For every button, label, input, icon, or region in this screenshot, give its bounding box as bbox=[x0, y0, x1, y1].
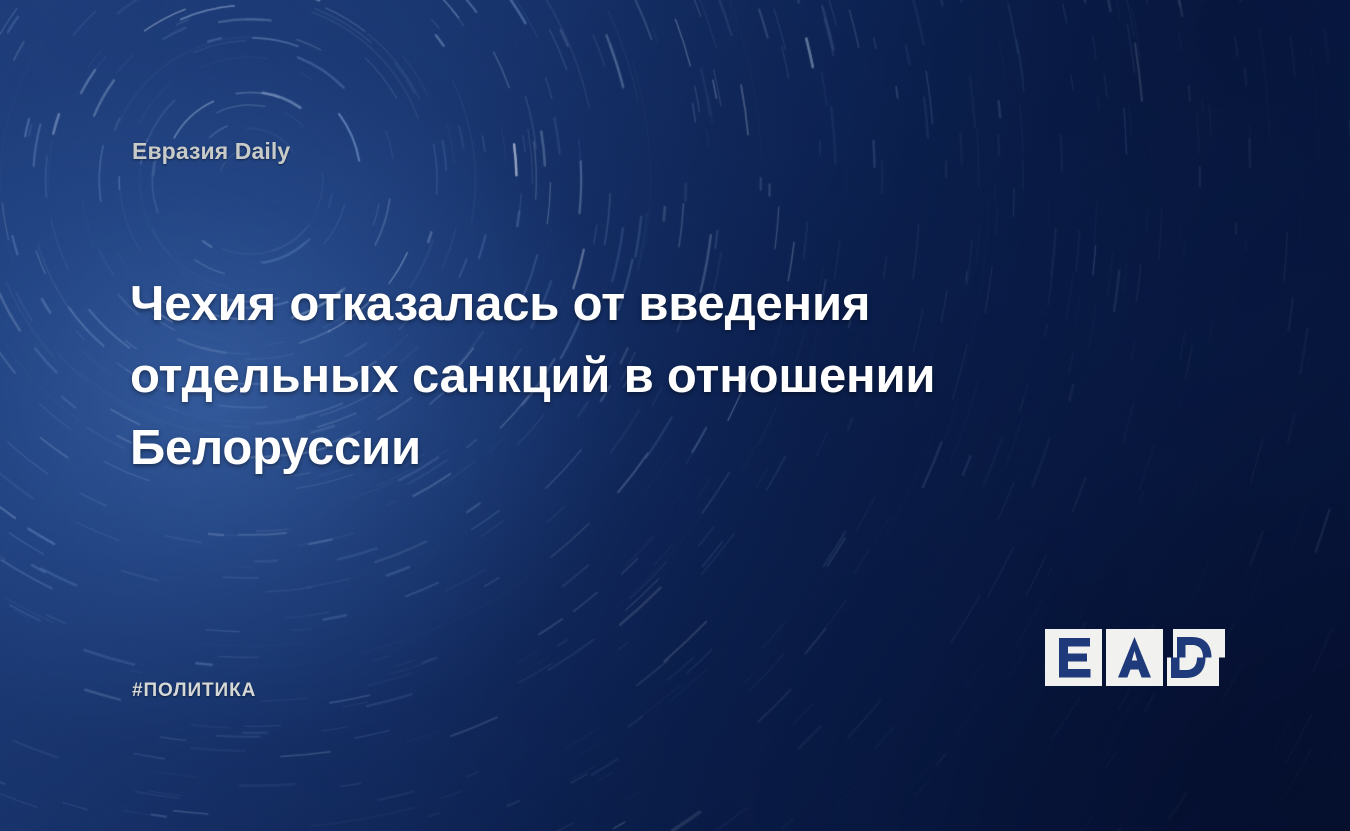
card-content: Евразия Daily Чехия отказалась от введен… bbox=[0, 0, 1350, 831]
headline-title: Чехия отказалась от введения отдельных с… bbox=[130, 268, 1050, 484]
brand-wordmark: Евразия Daily bbox=[132, 138, 290, 165]
logo-tile-d bbox=[1167, 629, 1225, 686]
ead-logo bbox=[1045, 629, 1225, 707]
news-share-card: Евразия Daily Чехия отказалась от введен… bbox=[0, 0, 1350, 831]
logo-tile-a bbox=[1106, 629, 1163, 686]
category-hashtag: #ПОЛИТИКА bbox=[132, 680, 256, 702]
logo-tile-e bbox=[1045, 629, 1102, 686]
